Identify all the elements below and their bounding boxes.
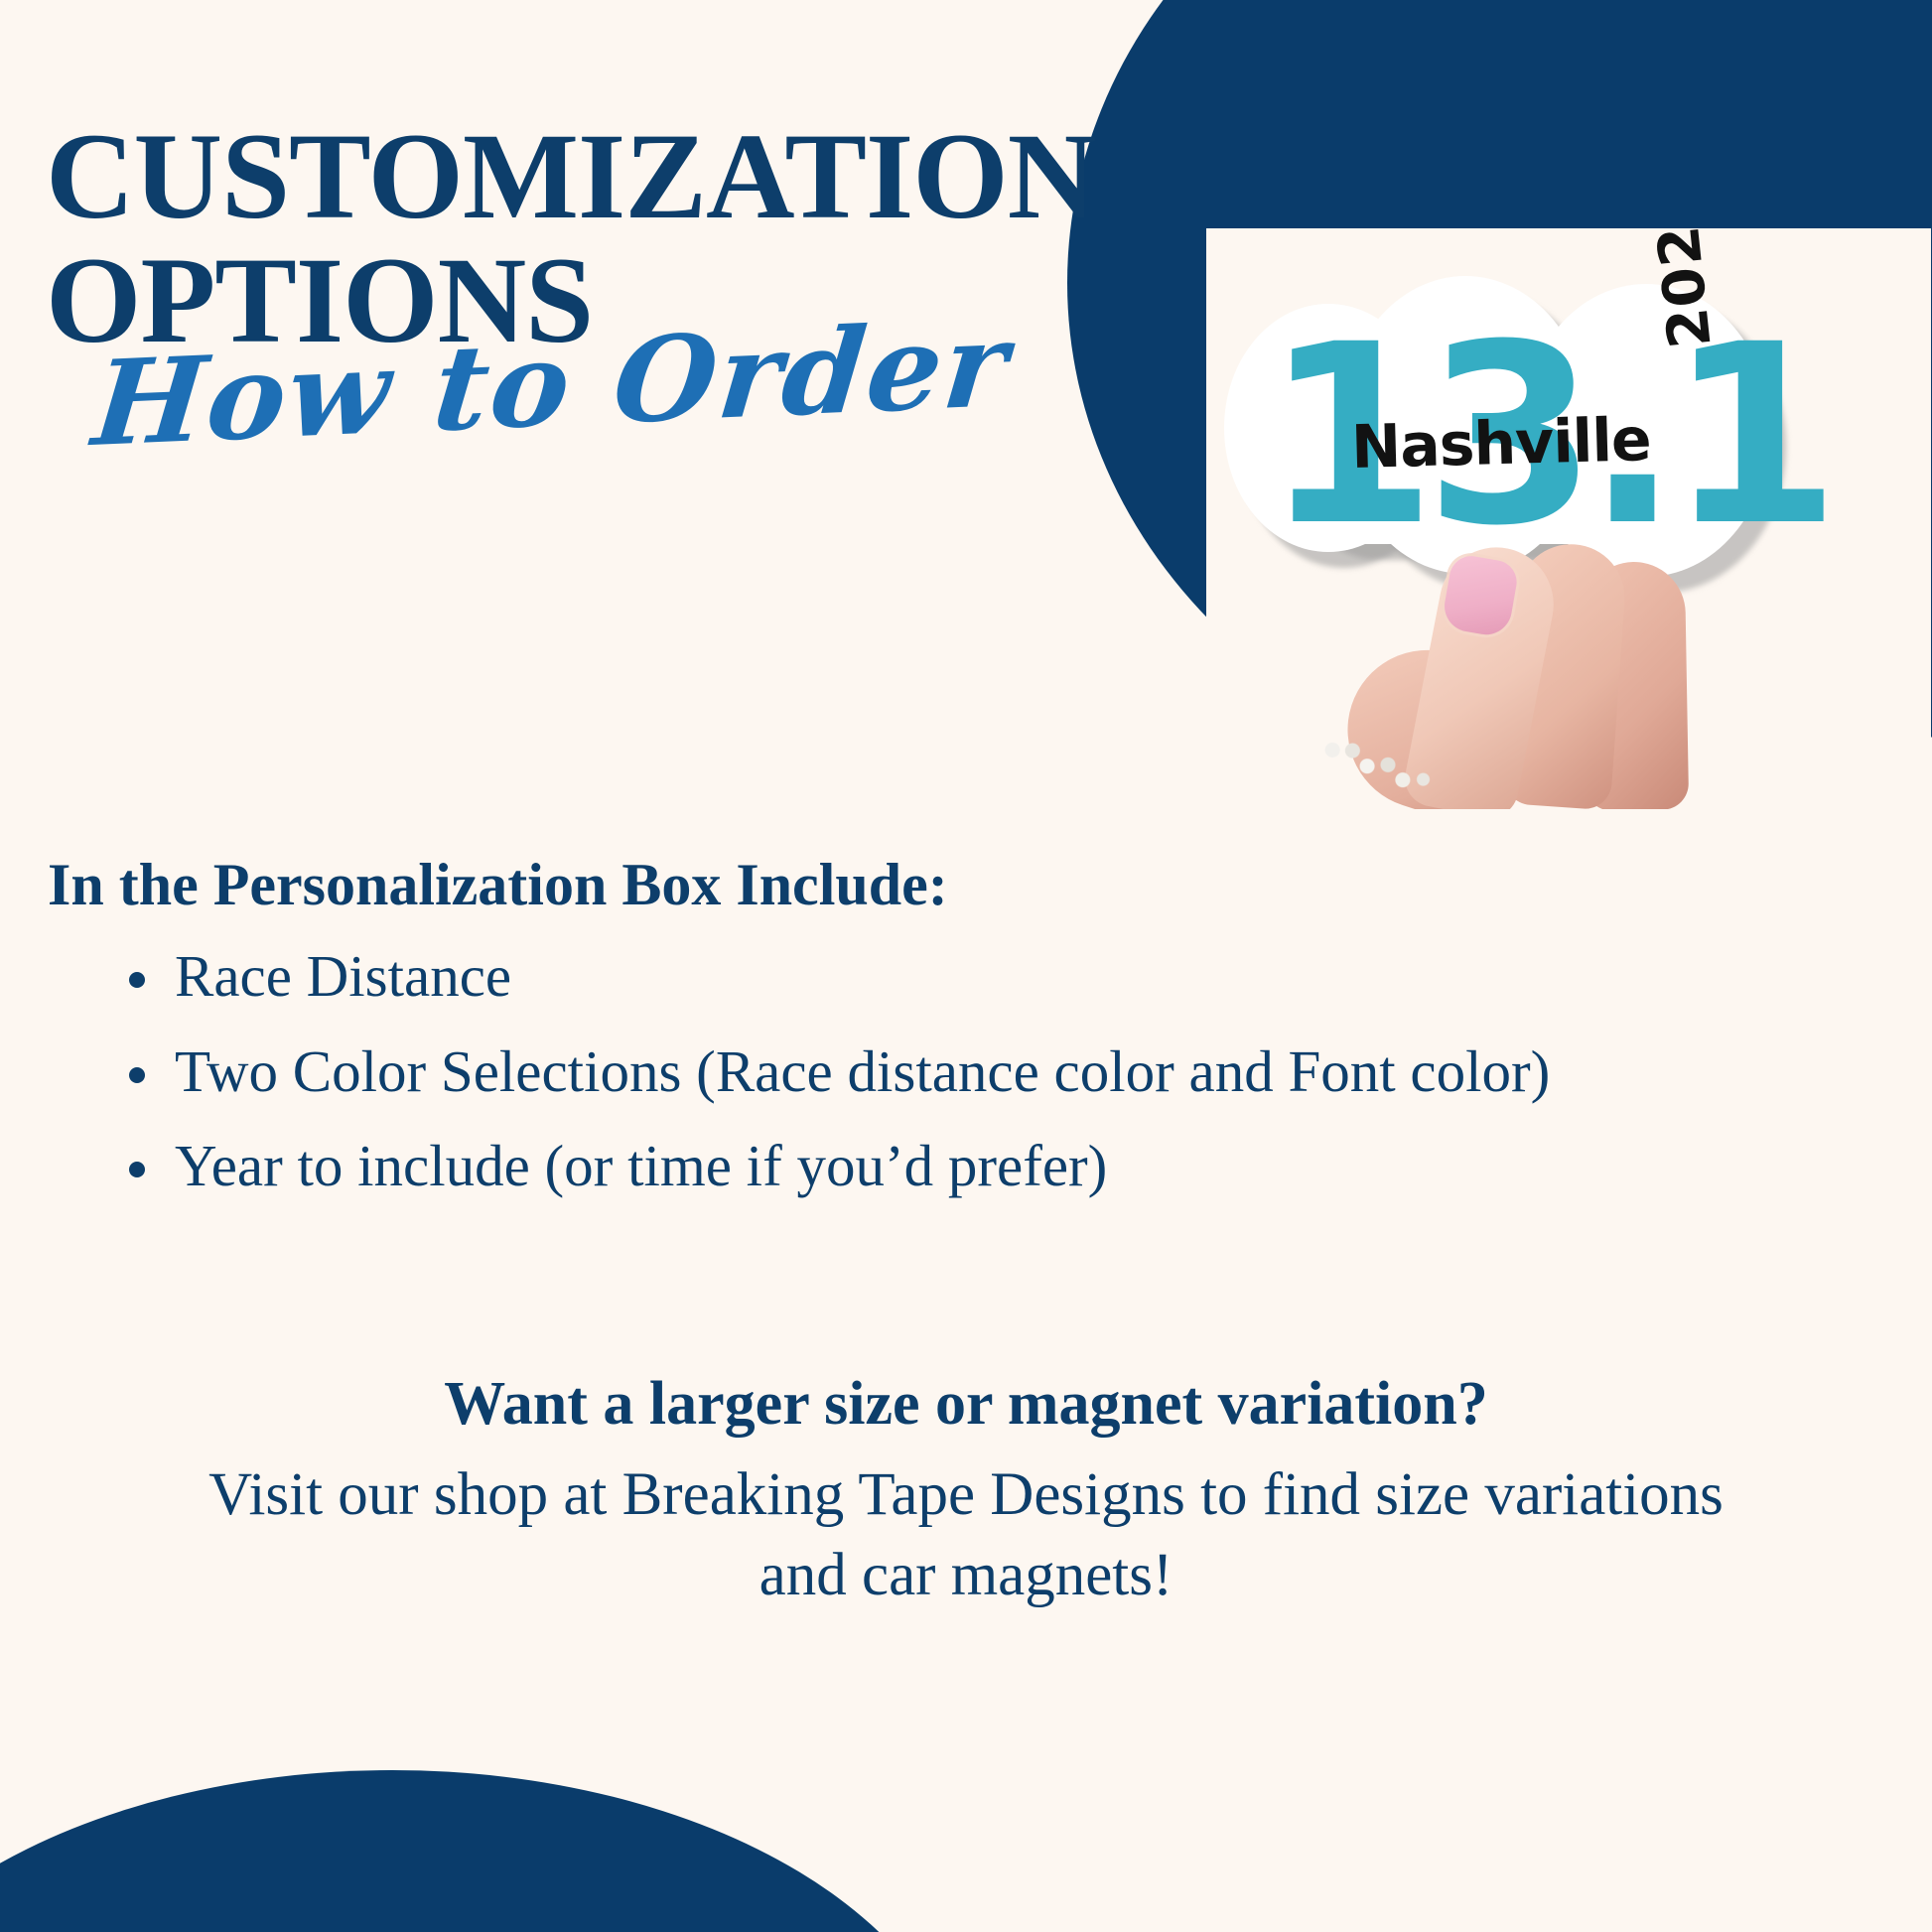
body-copy-section: In the Personalization Box Include: Race… — [0, 854, 1932, 1219]
list-item: Two Color Selections (Race distance colo… — [129, 1030, 1932, 1115]
personalization-heading: In the Personalization Box Include: — [48, 854, 1932, 916]
hand-holding-sticker — [1335, 536, 1762, 809]
product-photo: 13.1 Nashville 2024 — [1206, 228, 1931, 809]
personalization-bullet-list: Race Distance Two Color Selections (Race… — [0, 934, 1932, 1209]
headline-line-one: CUSTOMIZATION — [46, 117, 1297, 235]
list-item: Race Distance — [129, 934, 1932, 1020]
list-item: Year to include (or time if you’d prefer… — [129, 1124, 1932, 1209]
call-to-action-section: Want a larger size or magnet variation? … — [0, 1370, 1932, 1615]
script-subtitle: How to Order — [88, 306, 1014, 463]
navy-circle-bottom-left-decoration — [0, 1770, 968, 1932]
sticker-city-text: Nashville — [1350, 405, 1651, 483]
poster-canvas: CUSTOMIZATION OPTIONS How to Order 13.1 … — [0, 0, 1932, 1932]
cta-heading: Want a larger size or magnet variation? — [0, 1370, 1932, 1438]
cta-paragraph: Visit our shop at Breaking Tape Designs … — [192, 1455, 1740, 1615]
